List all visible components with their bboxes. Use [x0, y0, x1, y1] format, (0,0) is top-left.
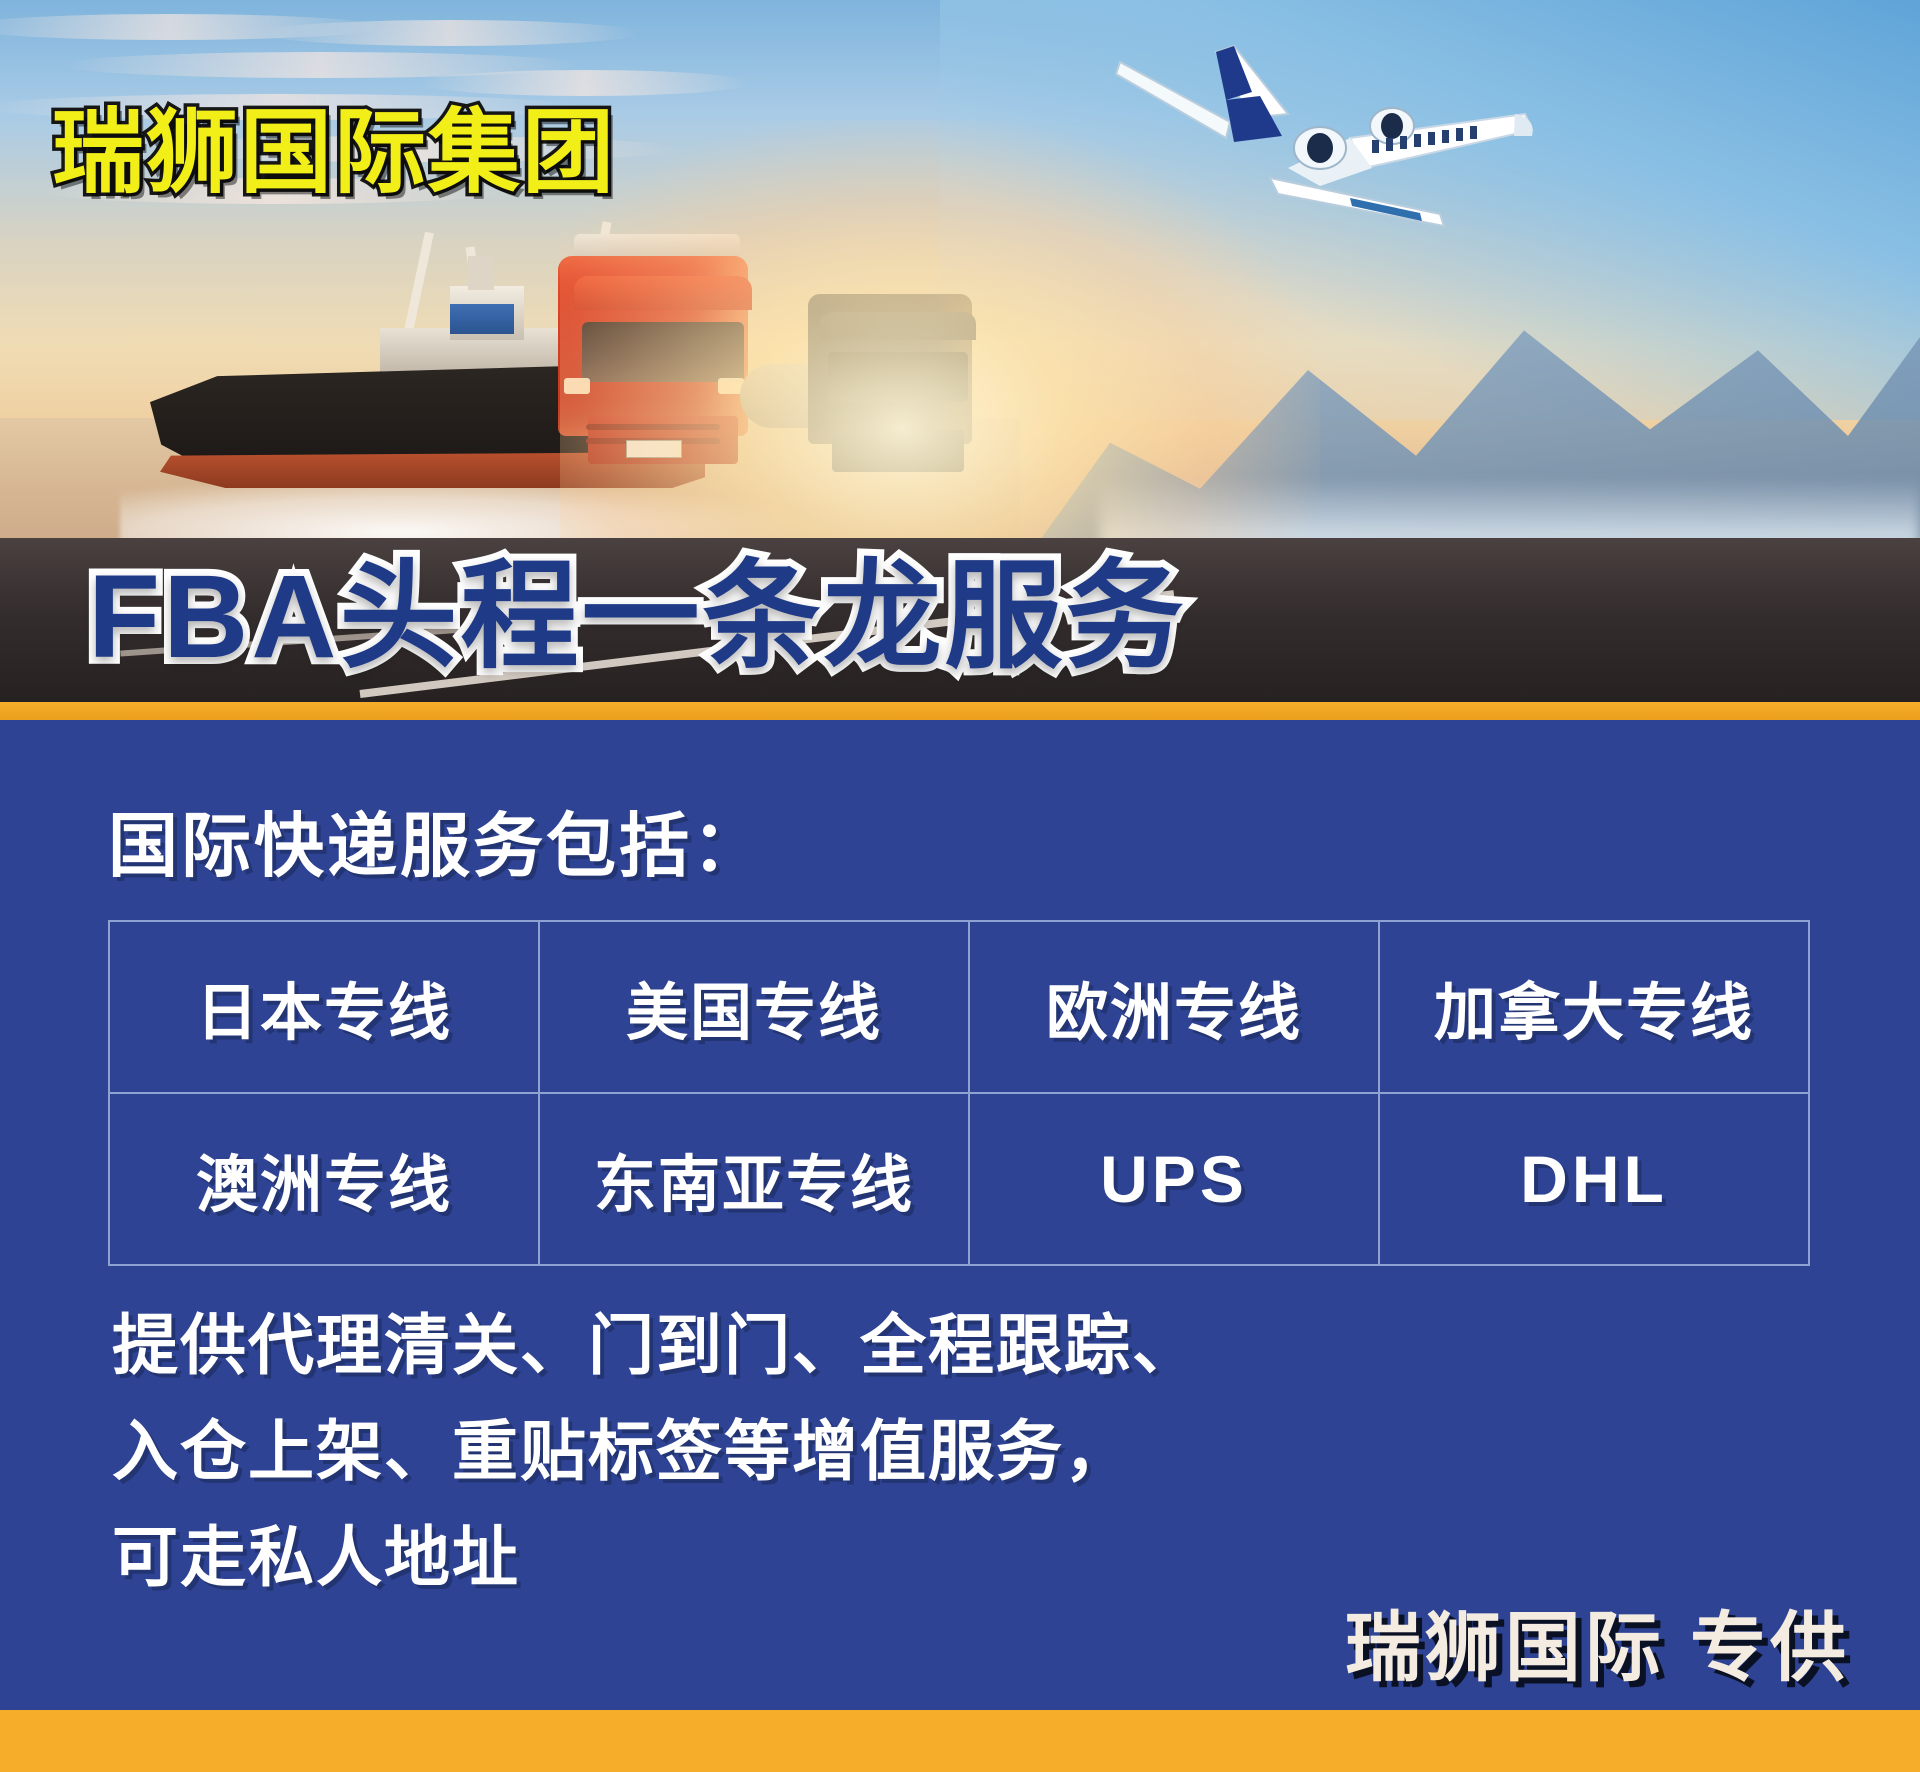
table-cell-europe[interactable]: 欧洲专线: [969, 921, 1379, 1093]
airplane-icon: [1020, 18, 1540, 238]
table-cell-canada[interactable]: 加拿大专线: [1379, 921, 1809, 1093]
description-line-3: 可走私人地址: [112, 1504, 1200, 1610]
info-panel: 国际快递服务包括： 日本专线 美国专线 欧洲专线 加拿大专线 澳洲专线 东南亚专…: [0, 720, 1920, 1710]
service-table: 日本专线 美国专线 欧洲专线 加拿大专线 澳洲专线 东南亚专线 UPS DHL: [108, 920, 1810, 1266]
table-cell-ups[interactable]: UPS: [969, 1093, 1379, 1265]
grey-tanker-truck-icon: [800, 268, 980, 478]
footer-brand-text: 瑞狮国际 专供: [1345, 1586, 1850, 1696]
table-cell-southeast-asia[interactable]: 东南亚专线: [539, 1093, 969, 1265]
poster-root: 瑞狮国际集团 FBA头程一条龙服务 国际快递服务包括： 日本专线 美国专线 欧洲…: [0, 0, 1920, 1772]
description-line-2: 入仓上架、重贴标签等增值服务，: [112, 1398, 1200, 1504]
gold-divider: [0, 702, 1920, 720]
company-logo-text: 瑞狮国际集团: [52, 78, 616, 211]
red-truck-icon: [548, 228, 758, 478]
description-line-1: 提供代理清关、门到门、全程跟踪、: [112, 1292, 1200, 1398]
bottom-gold-bar: [0, 1710, 1920, 1772]
panel-heading: 国际快递服务包括：: [108, 790, 765, 891]
hero-headline: FBA头程一条龙服务: [88, 520, 1187, 691]
hero-photo: 瑞狮国际集团 FBA头程一条龙服务: [0, 0, 1920, 718]
table-row: 日本专线 美国专线 欧洲专线 加拿大专线: [109, 921, 1809, 1093]
table-cell-japan[interactable]: 日本专线: [109, 921, 539, 1093]
table-cell-australia[interactable]: 澳洲专线: [109, 1093, 539, 1265]
table-row: 澳洲专线 东南亚专线 UPS DHL: [109, 1093, 1809, 1265]
table-cell-usa[interactable]: 美国专线: [539, 921, 969, 1093]
description-block: 提供代理清关、门到门、全程跟踪、 入仓上架、重贴标签等增值服务， 可走私人地址: [112, 1292, 1200, 1610]
table-cell-dhl[interactable]: DHL: [1379, 1093, 1809, 1265]
